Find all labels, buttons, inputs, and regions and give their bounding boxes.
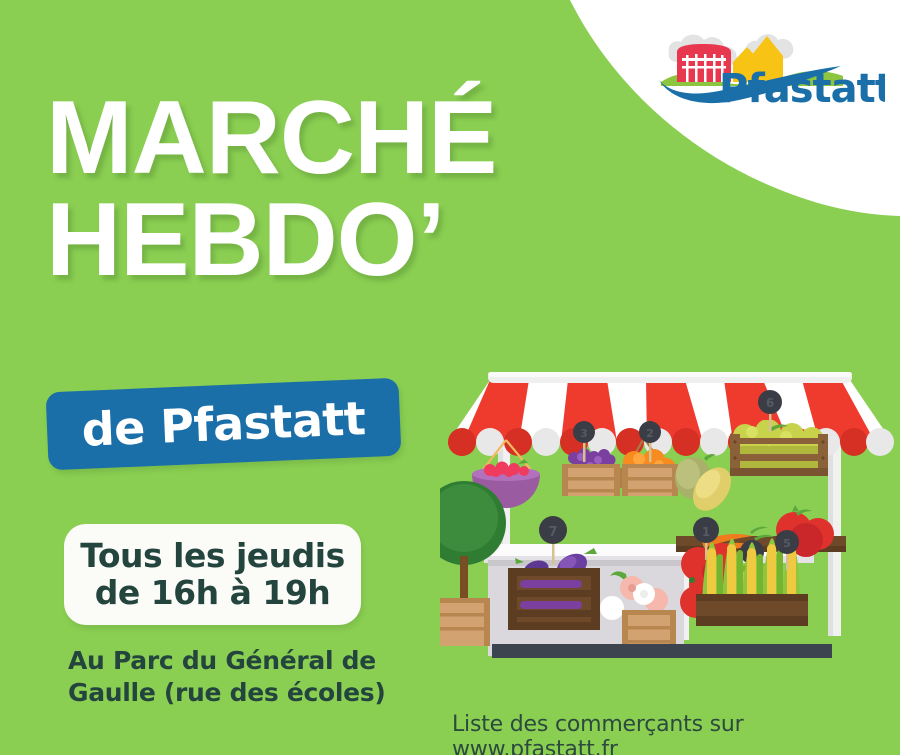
address-line-2: Gaulle (rue des écoles) <box>68 677 408 709</box>
hours-line-1: Tous les jeudis <box>80 538 345 575</box>
svg-text:2: 2 <box>646 427 654 440</box>
svg-text:Pfastatt: Pfastatt <box>719 66 885 112</box>
stall-base <box>492 644 832 658</box>
footer-note: Liste des commerçants sur www.pfastatt.f… <box>452 712 900 755</box>
svg-text:1: 1 <box>702 525 710 539</box>
address-line-1: Au Parc du Général de <box>68 645 408 677</box>
svg-text:7: 7 <box>548 525 557 540</box>
eggplant-crate: 7 <box>508 516 600 630</box>
svg-text:6: 6 <box>766 396 774 410</box>
poster-root: Pfastatt MARCHÉ HEBDO’ de Pfastatt Tous … <box>0 0 900 755</box>
address-text: Au Parc du Général de Gaulle (rue des éc… <box>68 645 408 709</box>
subtitle-badge-label: de Pfastatt <box>81 391 367 457</box>
hours-line-2: de 16h à 19h <box>95 575 331 612</box>
svg-text:3: 3 <box>580 427 588 440</box>
headline-line-2: HEBDO’ <box>46 190 586 292</box>
page-title: MARCHÉ HEBDO’ <box>46 88 586 292</box>
headline-line-1: MARCHÉ <box>46 88 586 190</box>
melons <box>675 454 739 518</box>
market-stall-illustration: 3 2 <box>440 358 900 703</box>
pfastatt-town-logo: Pfastatt <box>655 22 885 112</box>
svg-text:5: 5 <box>783 537 791 550</box>
hours-box: Tous les jeudis de 16h à 19h <box>64 524 361 625</box>
subtitle-badge: de Pfastatt <box>46 378 402 471</box>
corn-box: 5 <box>696 530 808 626</box>
